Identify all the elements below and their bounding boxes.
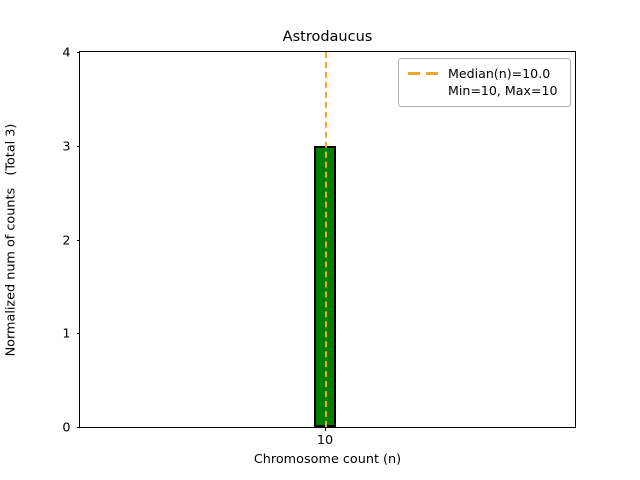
plot-area [80,52,575,427]
y-tick-label-3: 3 [62,139,70,154]
y-tick-label-4: 4 [62,46,70,61]
y-tick-label-2: 2 [62,233,70,248]
dashed-line-icon [407,65,441,81]
x-tick-label-10: 10 [317,433,333,448]
x-axis-label: Chromosome count (n) [79,452,576,467]
figure-canvas: Astrodaucus Normalized num of counts (To… [0,0,640,480]
plot-axes: 0 1 2 3 4 10 [79,51,576,428]
legend-label-minmax: Min=10, Max=10 [448,82,558,99]
median-line [325,52,327,427]
y-axis-label: Normalized num of counts (Total 3) [4,123,19,356]
y-axis-label-container: Normalized num of counts (Total 3) [0,51,22,428]
legend[interactable]: Median(n)=10.0 Min=10, Max=10 [398,58,571,107]
x-tick-mark-10 [325,427,326,431]
y-tick-mark-0: 0 [77,427,81,428]
chart-title: Astrodaucus [79,28,576,46]
y-tick-label-1: 1 [62,327,70,342]
y-tick-label-0: 0 [62,421,70,436]
legend-entry-text: Median(n)=10.0 Min=10, Max=10 [448,65,558,99]
legend-label-median: Median(n)=10.0 [448,65,558,82]
legend-entry-median: Median(n)=10.0 Min=10, Max=10 [407,65,562,99]
